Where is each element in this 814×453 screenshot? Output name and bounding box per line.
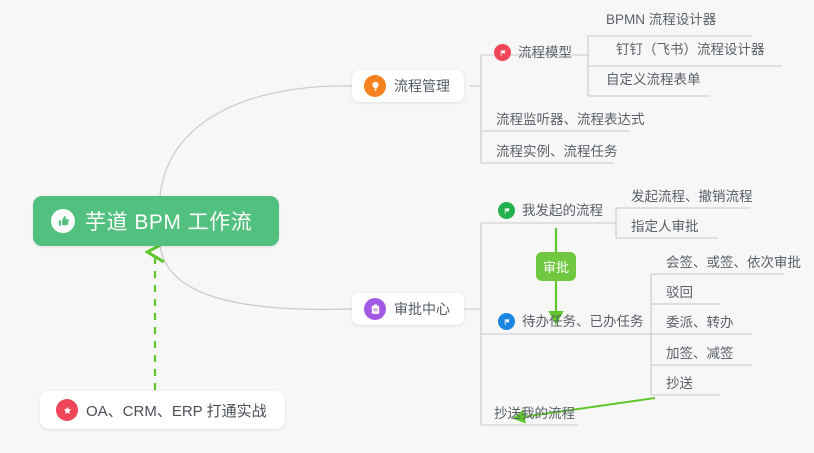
branch-node-liuchengguanli[interactable]: 流程管理 [352,70,464,102]
approve-tag-label: 审批 [543,257,569,276]
leaf-chaosong-wode-liucheng[interactable]: 抄送我的流程 [488,405,581,425]
bottom-node-oa-crm-erp[interactable]: OA、CRM、ERP 打通实战 [40,391,285,429]
flag-icon [498,202,515,219]
connector-root-to-shenpizhongxin [160,246,352,309]
leaf-faqi-chexiao[interactable]: 发起流程、撤销流程 [625,188,759,208]
leaf-bohui[interactable]: 驳回 [660,284,699,304]
leaf-liucheng-listener[interactable]: 流程监听器、流程表达式 [490,111,651,131]
leaf-zhidingren-shenpi[interactable]: 指定人审批 [625,218,705,238]
root-node[interactable]: 芋道 BPM 工作流 [33,196,279,246]
leaf-chaosong[interactable]: 抄送 [660,375,699,395]
root-label: 芋道 BPM 工作流 [85,206,252,236]
leaf-label-liuchengmoxing: 流程模型 [518,44,572,61]
bottom-node-label: OA、CRM、ERP 打通实战 [86,400,267,421]
flag-icon [498,313,515,330]
leaf-liucheng-instance[interactable]: 流程实例、流程任务 [490,143,624,163]
branch-node-shenpizhongxin[interactable]: 审批中心 [352,293,464,325]
leaf-bpmn-designer[interactable]: BPMN 流程设计器 [600,11,722,31]
branch-label-liuchengguanli: 流程管理 [394,76,450,96]
thumbs-up-icon [51,209,75,233]
leaf-label-daibanrenwu: 待办任务、已办任务 [522,313,644,330]
clipboard-icon [364,298,386,320]
leaf-dingding-designer[interactable]: 钉钉（飞书）流程设计器 [610,41,771,61]
leaf-liuchengmoxing[interactable]: 流程模型 [488,44,578,64]
mindmap-canvas: 芋道 BPM 工作流 流程管理 审批中心 [0,0,814,453]
leaf-jiaqian-jianqian[interactable]: 加签、减签 [660,345,740,365]
branch-label-shenpizhongxin: 审批中心 [394,299,450,319]
lightbulb-icon [364,75,386,97]
flag-icon [494,44,511,61]
approve-tag[interactable]: 审批 [536,252,576,281]
leaf-wofaqide-liucheng[interactable]: 我发起的流程 [492,202,609,222]
leaf-huiqian-huoqian[interactable]: 会签、或签、依次审批 [660,254,807,274]
star-icon [56,399,78,421]
leaf-custom-form[interactable]: 自定义流程表单 [600,71,707,91]
leaf-daiban-yiban-renwu[interactable]: 待办任务、已办任务 [492,313,650,333]
leaf-weipai-zhuanban[interactable]: 委派、转办 [660,314,740,334]
leaf-label-wofaqide: 我发起的流程 [522,202,603,219]
connector-root-to-liuchengguanli [160,86,352,196]
